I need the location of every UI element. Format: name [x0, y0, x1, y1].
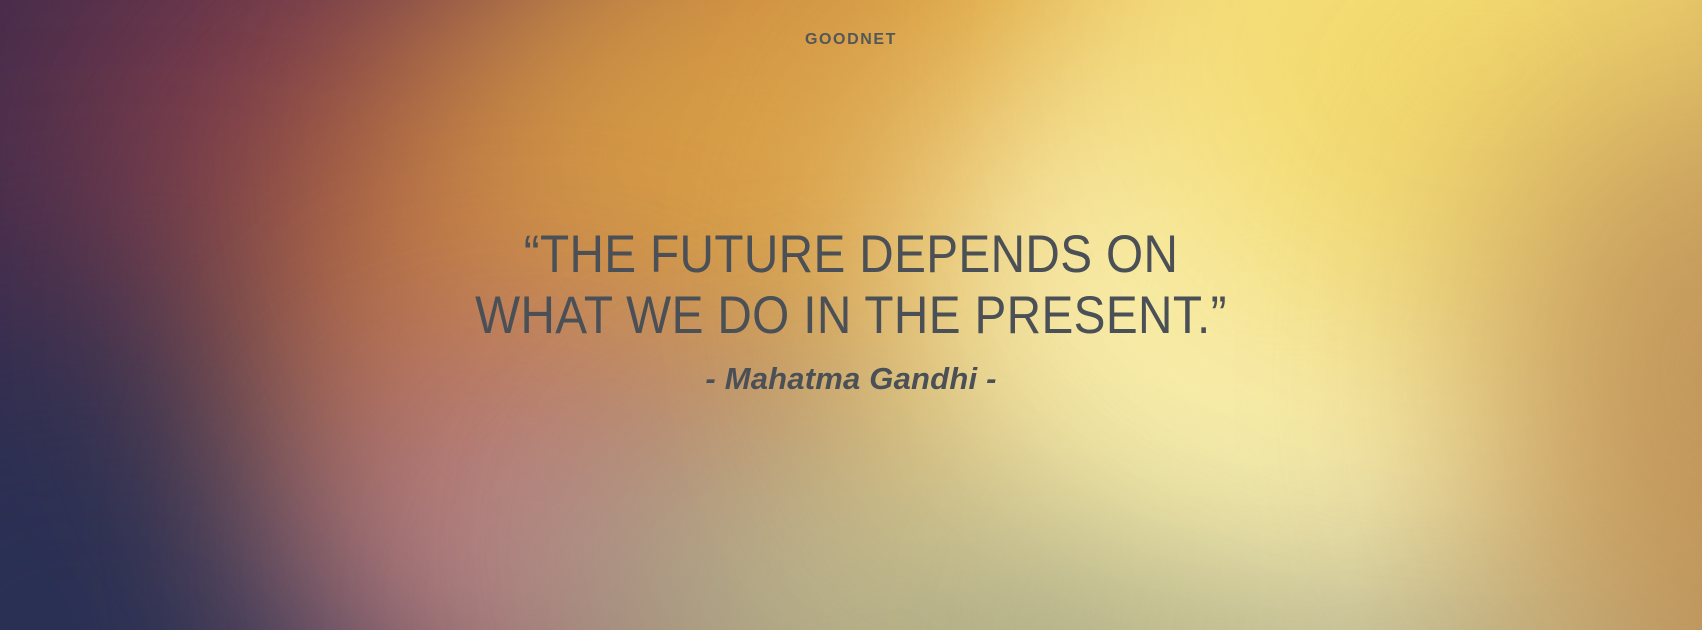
brand-header: GOODNET	[0, 31, 1702, 49]
quote-banner: GOODNET “THE FUTURE DEPENDS ON WHAT WE D…	[0, 0, 1702, 630]
goodnet-logo[interactable]: GOODNET	[805, 32, 897, 48]
quote-line-1: “THE FUTURE DEPENDS ON	[85, 224, 1617, 285]
banner-content: GOODNET “THE FUTURE DEPENDS ON WHAT WE D…	[0, 0, 1702, 630]
quote-attribution: - Mahatma Gandhi -	[0, 361, 1702, 397]
quote-line-2: WHAT WE DO IN THE PRESENT.”	[85, 285, 1617, 346]
quote-block: “THE FUTURE DEPENDS ON WHAT WE DO IN THE…	[0, 224, 1702, 397]
